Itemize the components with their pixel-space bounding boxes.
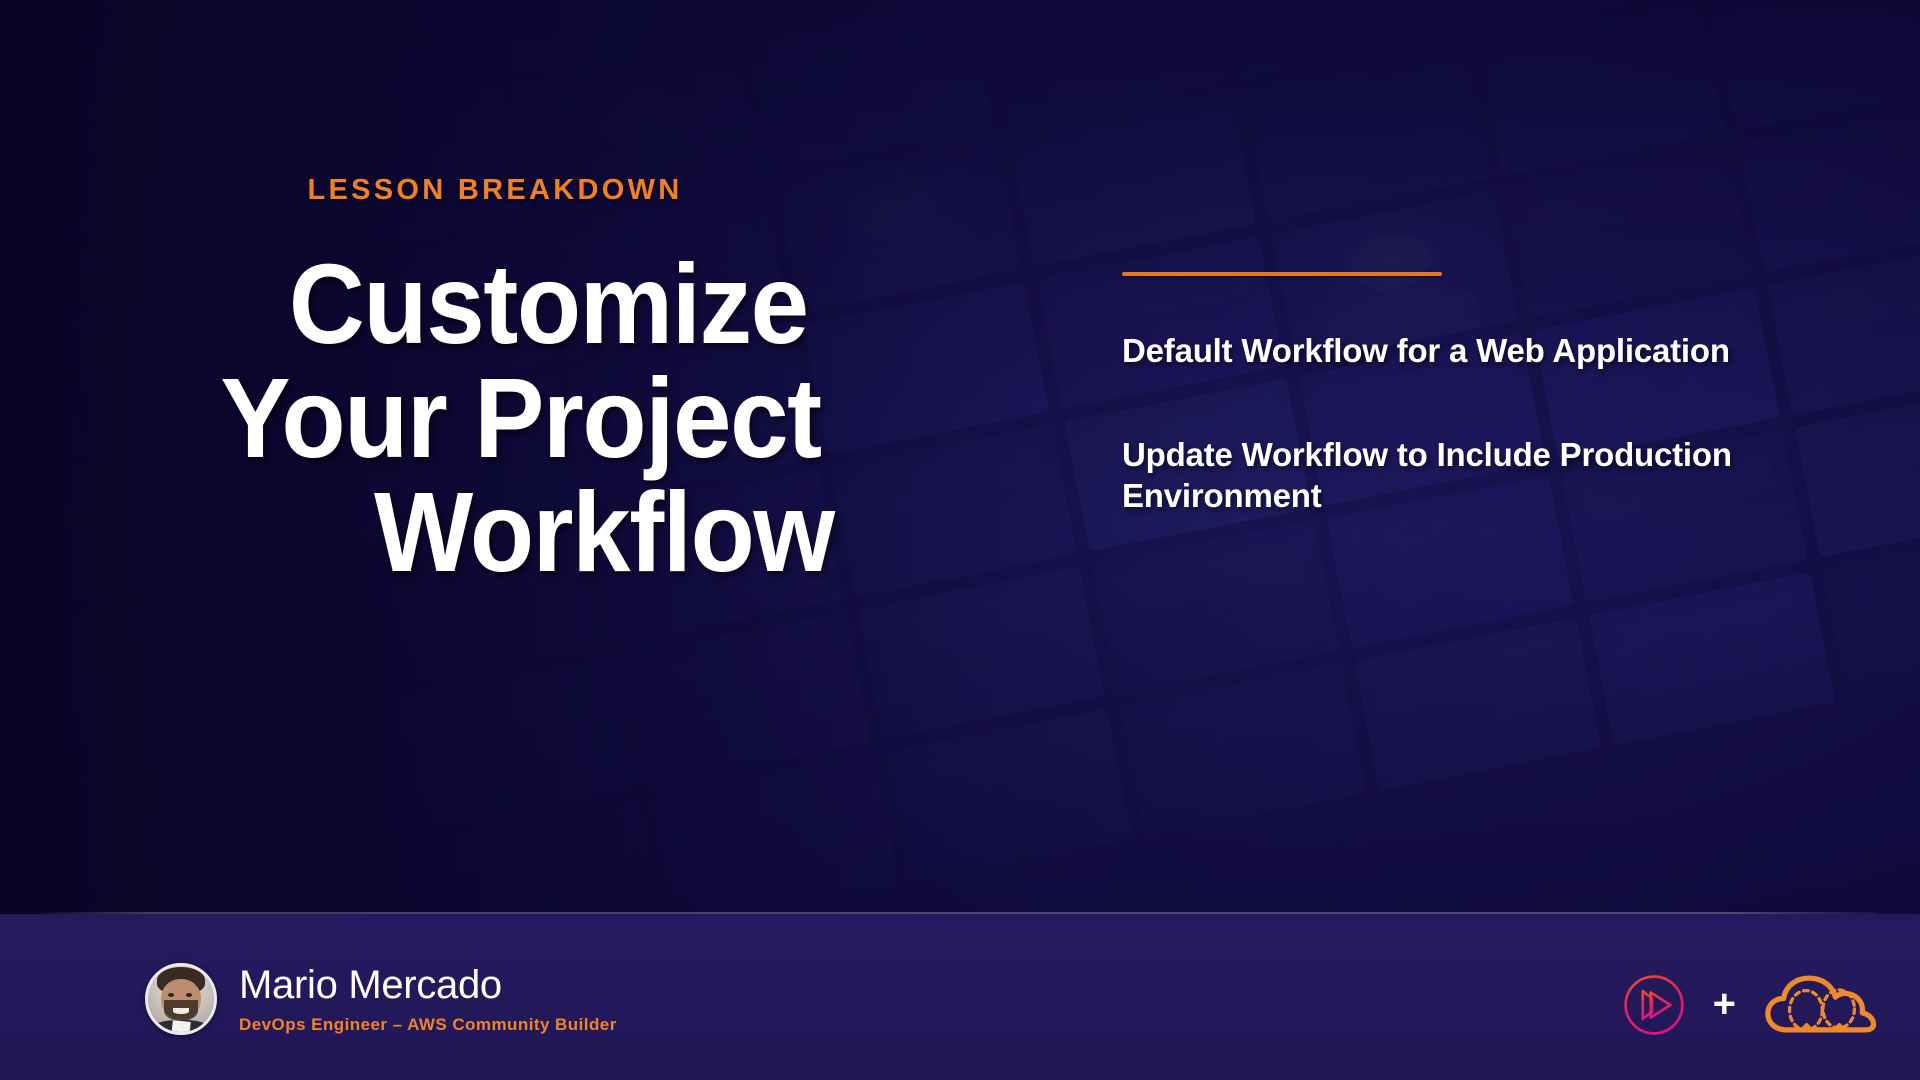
presenter-name: Mario Mercado xyxy=(239,965,617,1005)
title-line-1: Customize xyxy=(69,247,990,361)
avatar xyxy=(145,963,217,1035)
title-line-2: Your Project xyxy=(69,361,990,475)
accent-divider xyxy=(1122,272,1442,276)
cloud-icon xyxy=(1762,972,1880,1038)
presentation-slide: LESSON BREAKDOWN Customize Your Project … xyxy=(0,0,1920,1080)
brand-logos: + xyxy=(1621,972,1880,1038)
list-item: Default Workflow for a Web Application xyxy=(1122,330,1842,372)
page-title: Customize Your Project Workflow xyxy=(69,247,990,589)
breakdown-list: Default Workflow for a Web Application U… xyxy=(1122,330,1842,517)
title-line-3: Workflow xyxy=(69,475,990,589)
breakdown-column: Default Workflow for a Web Application U… xyxy=(1122,272,1842,517)
title-column: LESSON BREAKDOWN Customize Your Project … xyxy=(0,176,990,589)
eyebrow-label: LESSON BREAKDOWN xyxy=(0,176,990,205)
presenter-text: Mario Mercado DevOps Engineer – AWS Comm… xyxy=(239,965,617,1033)
presenter-block: Mario Mercado DevOps Engineer – AWS Comm… xyxy=(145,963,617,1035)
presenter-role: DevOps Engineer – AWS Community Builder xyxy=(239,1016,617,1033)
plus-icon: + xyxy=(1713,984,1736,1024)
play-circle-icon xyxy=(1621,972,1687,1038)
list-item: Update Workflow to Include Production En… xyxy=(1122,434,1842,517)
footer-divider xyxy=(42,912,1878,914)
